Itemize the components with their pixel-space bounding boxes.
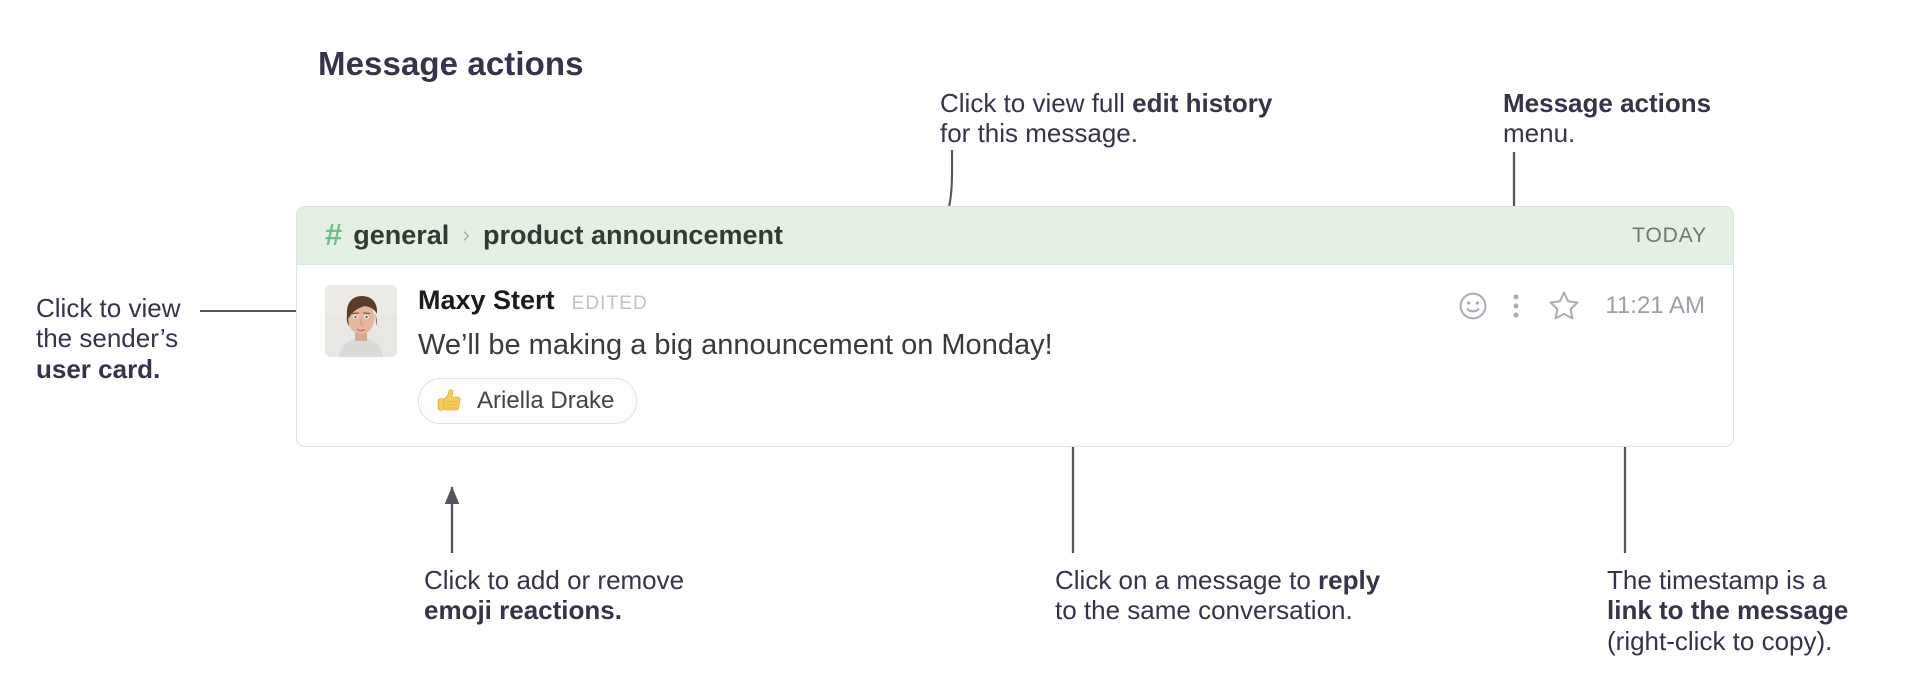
emoji-reaction-pill[interactable]: Ariella Drake — [418, 378, 637, 424]
stream-topic-header: # general › product announcement TODAY — [297, 207, 1733, 265]
annotation-emoji-bold: emoji reactions. — [424, 595, 622, 625]
edited-badge[interactable]: EDITED — [572, 293, 648, 315]
message-text[interactable]: We’ll be making a big announcement on Mo… — [418, 328, 1707, 363]
annotation-user-card-bold: user card. — [36, 354, 160, 384]
annotation-actions-menu-bold: Message actions — [1503, 88, 1711, 118]
message-actions-menu-icon[interactable] — [1511, 290, 1521, 322]
sender-name[interactable]: Maxy Stert — [418, 285, 555, 316]
hash-icon: # — [325, 219, 342, 250]
topic-name[interactable]: product announcement — [483, 220, 783, 251]
avatar-image — [325, 285, 397, 357]
annotation-timestamp-line1: The timestamp is a — [1607, 565, 1848, 595]
annotation-edit-history-line1-pre: Click to view full — [940, 88, 1132, 118]
message-controls: 11:21 AM — [1457, 289, 1705, 323]
annotated-screenshot: Message actions Click to view full edit … — [0, 0, 1924, 696]
annotation-timestamp-line3: (right-click to copy). — [1607, 626, 1848, 656]
annotation-reply-line2: to the same conversation. — [1055, 595, 1380, 625]
annotation-reply: Click on a message to reply to the same … — [1055, 565, 1380, 626]
annotation-user-card-line1: Click to view — [36, 293, 180, 323]
annotation-user-card: Click to view the sender’s user card. — [36, 293, 180, 384]
annotation-edit-history: Click to view full edit history for this… — [940, 88, 1272, 149]
reaction-user-name: Ariella Drake — [477, 387, 614, 415]
message-timestamp[interactable]: 11:21 AM — [1605, 292, 1705, 320]
chevron-right-icon: › — [462, 221, 470, 248]
annotation-user-card-line2: the sender’s — [36, 323, 180, 353]
annotation-actions-menu-line2: menu. — [1503, 118, 1711, 148]
avatar[interactable] — [325, 285, 397, 357]
stream-name[interactable]: general — [353, 220, 449, 251]
annotation-emoji-line1: Click to add or remove — [424, 565, 684, 595]
annotation-edit-history-bold: edit history — [1132, 88, 1272, 118]
annotation-actions-menu: Message actions menu. — [1503, 88, 1711, 149]
star-message-icon[interactable] — [1547, 289, 1581, 323]
annotation-timestamp-bold: link to the message — [1607, 595, 1848, 625]
add-emoji-reaction-icon[interactable] — [1457, 290, 1489, 322]
annotation-reply-bold: reply — [1318, 565, 1380, 595]
annotation-edit-history-line2: for this message. — [940, 118, 1272, 148]
reaction-row: Ariella Drake — [418, 378, 1707, 424]
message-row[interactable]: Maxy Stert EDITED We’ll be making a big … — [297, 265, 1733, 446]
date-label: TODAY — [1632, 224, 1707, 248]
annotation-timestamp: The timestamp is a link to the message (… — [1607, 565, 1848, 656]
message-card: # general › product announcement TODAY — [296, 206, 1734, 447]
thumbs-up-emoji — [435, 386, 465, 416]
annotation-reply-line1-pre: Click on a message to — [1055, 565, 1318, 595]
annotation-emoji-reactions: Click to add or remove emoji reactions. — [424, 565, 684, 626]
page-title: Message actions — [318, 45, 584, 83]
